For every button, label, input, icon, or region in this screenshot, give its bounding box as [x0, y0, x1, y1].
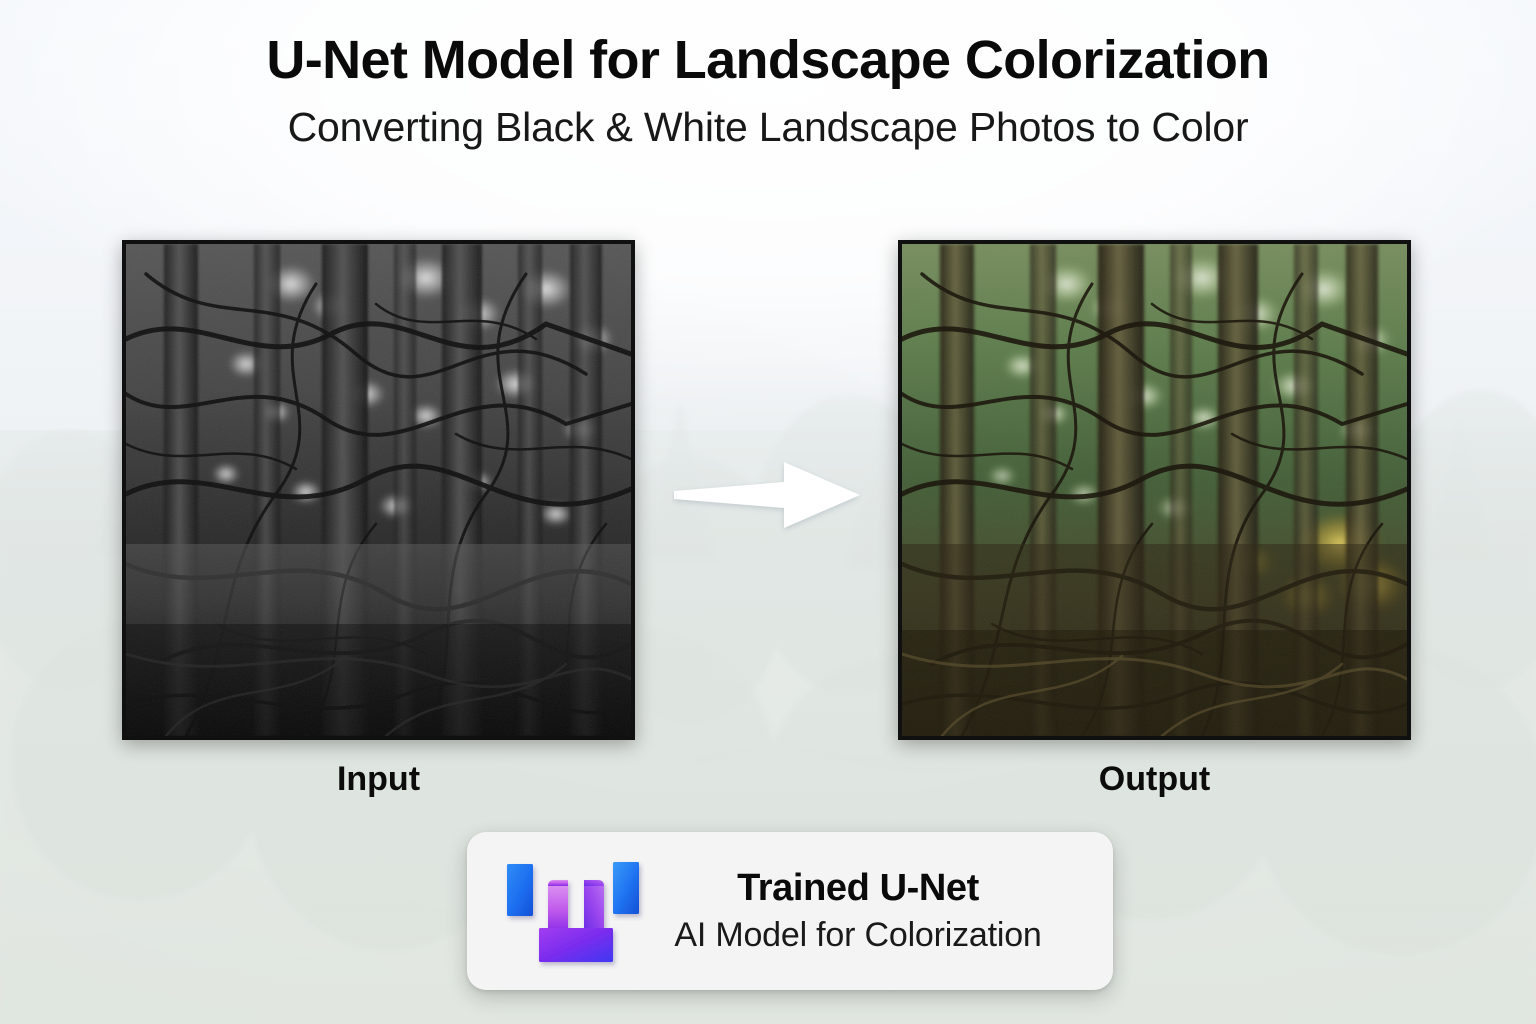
output-image-panel[interactable]	[898, 240, 1411, 740]
input-panel-label: Input	[122, 760, 635, 799]
colorized-forest-photo	[902, 244, 1407, 736]
grayscale-forest-photo	[126, 244, 631, 736]
badge-text-block: Trained U-Net AI Model for Colorization	[651, 867, 1079, 955]
trained-model-badge-card[interactable]: Trained U-Net AI Model for Colorization	[467, 832, 1113, 990]
badge-subtitle: AI Model for Colorization	[651, 916, 1065, 955]
badge-title: Trained U-Net	[651, 867, 1065, 911]
page-subtitle: Converting Black & White Landscape Photo…	[0, 104, 1536, 151]
right-arrow-icon	[672, 455, 862, 535]
input-image-panel[interactable]	[122, 240, 635, 740]
page-title: U-Net Model for Landscape Colorization	[0, 30, 1536, 90]
output-panel-label: Output	[898, 760, 1411, 799]
page-header: U-Net Model for Landscape Colorization C…	[0, 0, 1536, 151]
u-net-diagram-icon	[501, 852, 651, 970]
